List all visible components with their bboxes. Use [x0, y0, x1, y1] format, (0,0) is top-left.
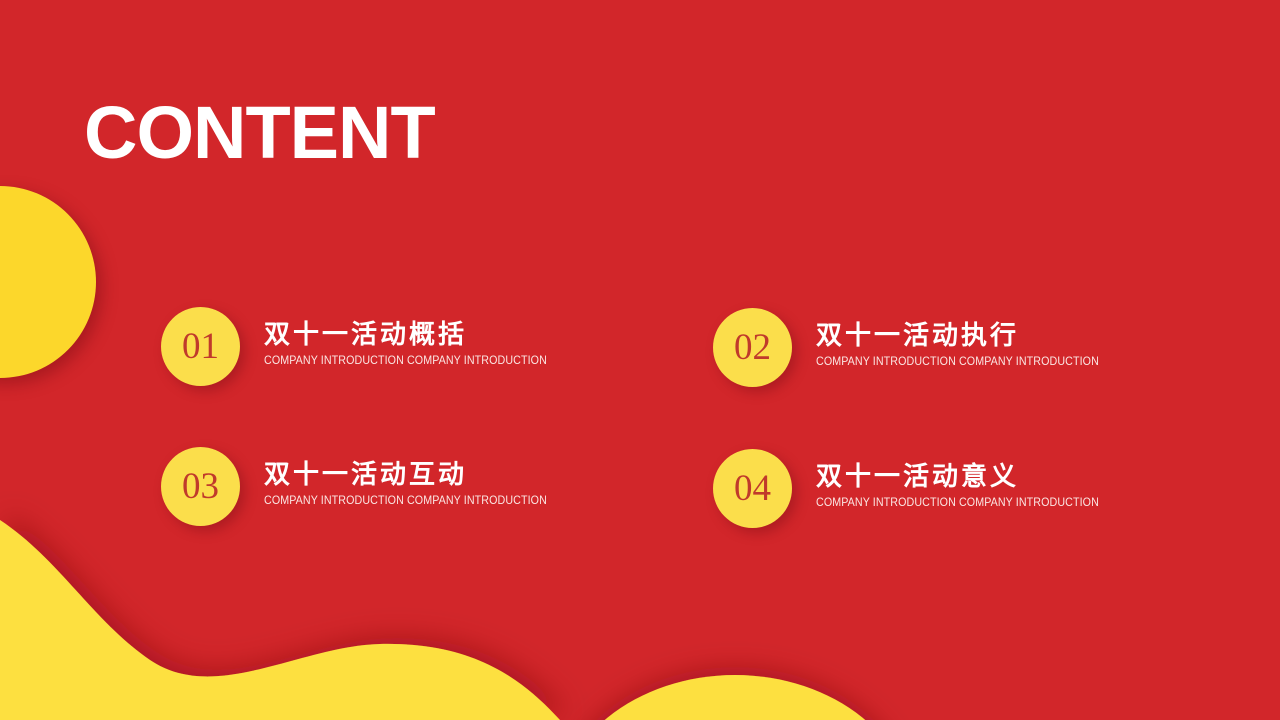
item-number: 04 — [734, 470, 771, 507]
item-number: 03 — [182, 468, 219, 505]
content-list: 01 双十一活动概括 COMPANY INTRODUCTION COMPANY … — [0, 0, 1280, 720]
item-heading: 双十一活动概括 — [264, 320, 568, 350]
list-item[interactable]: 03 双十一活动互动 COMPANY INTRODUCTION COMPANY … — [161, 447, 568, 526]
item-subtitle: COMPANY INTRODUCTION COMPANY INTRODUCTIO… — [264, 495, 547, 509]
item-number: 02 — [734, 329, 771, 366]
item-number: 01 — [182, 328, 219, 365]
item-subtitle: COMPANY INTRODUCTION COMPANY INTRODUCTIO… — [264, 355, 547, 369]
item-text-block: 双十一活动意义 COMPANY INTRODUCTION COMPANY INT… — [792, 449, 1120, 511]
item-subtitle: COMPANY INTRODUCTION COMPANY INTRODUCTIO… — [816, 497, 1099, 511]
item-text-block: 双十一活动互动 COMPANY INTRODUCTION COMPANY INT… — [240, 447, 568, 509]
item-heading: 双十一活动互动 — [264, 460, 568, 490]
item-text-block: 双十一活动概括 COMPANY INTRODUCTION COMPANY INT… — [240, 307, 568, 369]
item-text-block: 双十一活动执行 COMPANY INTRODUCTION COMPANY INT… — [792, 308, 1120, 370]
item-heading: 双十一活动意义 — [816, 462, 1120, 492]
item-heading: 双十一活动执行 — [816, 321, 1120, 351]
list-item[interactable]: 01 双十一活动概括 COMPANY INTRODUCTION COMPANY … — [161, 307, 568, 386]
item-number-badge: 03 — [161, 447, 240, 526]
item-subtitle: COMPANY INTRODUCTION COMPANY INTRODUCTIO… — [816, 356, 1099, 370]
slide-canvas: CONTENT 01 双十一活动概括 COMPANY INTRODUCTION … — [0, 0, 1280, 720]
list-item[interactable]: 04 双十一活动意义 COMPANY INTRODUCTION COMPANY … — [713, 449, 1120, 528]
item-number-badge: 01 — [161, 307, 240, 386]
list-item[interactable]: 02 双十一活动执行 COMPANY INTRODUCTION COMPANY … — [713, 308, 1120, 387]
item-number-badge: 02 — [713, 308, 792, 387]
item-number-badge: 04 — [713, 449, 792, 528]
